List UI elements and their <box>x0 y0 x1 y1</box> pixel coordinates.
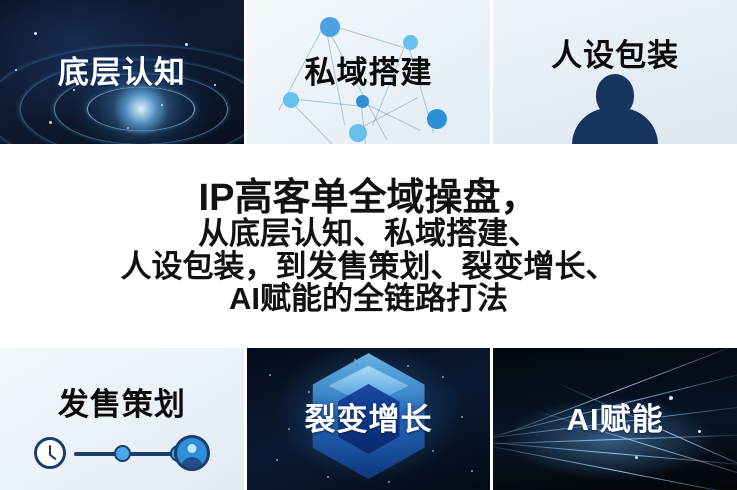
panel-label-launch-planning: 发售策划 <box>58 389 186 420</box>
top-panel-strip: 底层认知 私域搭建 <box>0 0 737 144</box>
person-silhouette-icon <box>572 74 658 144</box>
panel-ai-empowerment[interactable]: AI赋能 <box>493 348 737 490</box>
headline-line-3: 人设包装，到发售策划、裂变增长、 <box>121 251 617 283</box>
headline-line-2: 从底层认知、私域搭建、 <box>198 218 539 250</box>
panel-persona-packaging[interactable]: 人设包装 <box>493 0 737 144</box>
clock-timeline-icon <box>22 436 214 470</box>
panel-launch-planning[interactable]: 发售策划 <box>0 348 244 490</box>
timeline-dot-icon <box>114 445 131 462</box>
bottom-panel-strip: 发售策划 裂变增长 <box>0 348 737 490</box>
headline-line-4: AI赋能的全链路打法 <box>229 283 508 315</box>
panel-private-domain-building[interactable]: 私域搭建 <box>247 0 491 144</box>
clock-icon <box>34 437 66 469</box>
panel-fission-growth[interactable]: 裂变增长 <box>247 348 491 490</box>
headline-line-1: IP高客单全域操盘， <box>199 179 539 219</box>
headline-block: IP高客单全域操盘， 从底层认知、私域搭建、 人设包装，到发售策划、裂变增长、 … <box>0 144 737 348</box>
panel-label-foundational-cognition: 底层认知 <box>58 57 186 88</box>
timeline-person-endpoint-icon <box>174 435 210 471</box>
panel-label-persona-packaging: 人设包装 <box>551 40 679 71</box>
panel-foundational-cognition[interactable]: 底层认知 <box>0 0 244 144</box>
poster-root: 底层认知 私域搭建 <box>0 0 737 490</box>
panel-label-ai-empowerment: AI赋能 <box>567 404 664 435</box>
panel-label-private-domain-building: 私域搭建 <box>305 57 433 88</box>
panel-label-fission-growth: 裂变增长 <box>305 404 433 435</box>
